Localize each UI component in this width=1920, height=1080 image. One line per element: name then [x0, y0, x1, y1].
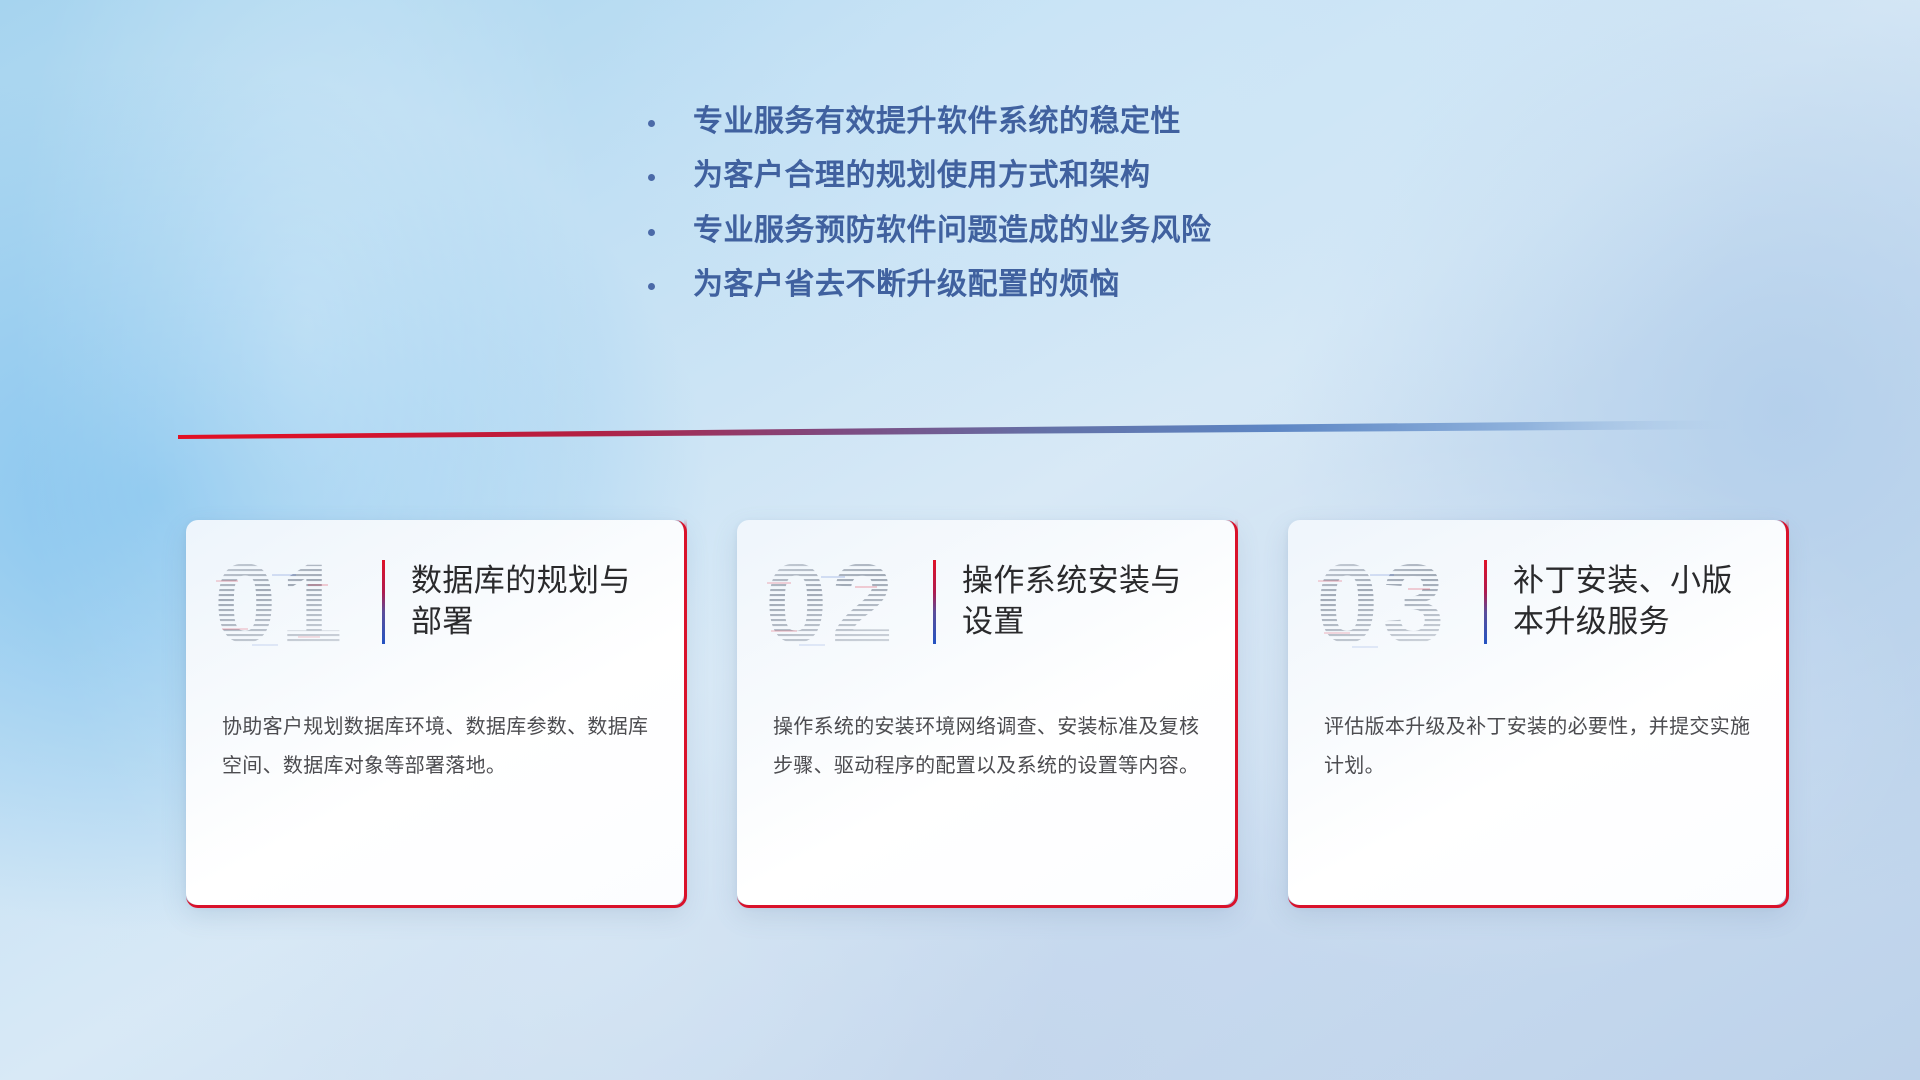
- card-title-divider: [1484, 560, 1487, 644]
- list-item: 为客户省去不断升级配置的烦恼: [648, 269, 1468, 301]
- card-number-01: 01: [212, 544, 382, 660]
- card-body-text: 操作系统的安装环境网络调查、安装标准及复核步骤、驱动程序的配置以及系统的设置等内…: [773, 708, 1201, 786]
- card-number-03: 03: [1314, 544, 1484, 660]
- striped-number-icon: 02: [763, 544, 933, 660]
- bullet-dot-icon: [648, 120, 655, 127]
- card-title-divider: [382, 560, 385, 644]
- service-card-02[interactable]: 02 操作系统安装与设置: [737, 520, 1235, 905]
- card-title: 补丁安装、小版本升级服务: [1513, 561, 1753, 643]
- slide-canvas: 专业服务有效提升软件系统的稳定性 为客户合理的规划使用方式和架构 专业服务预防软…: [0, 0, 1920, 1080]
- card-header: 02 操作系统安装与设置: [737, 520, 1235, 670]
- card-body-text: 协助客户规划数据库环境、数据库参数、数据库空间、数据库对象等部署落地。: [222, 708, 650, 786]
- list-item: 专业服务预防软件问题造成的业务风险: [648, 215, 1468, 247]
- service-card-03[interactable]: 03 补丁安装、小版本升级服务: [1288, 520, 1786, 905]
- card-number-02: 02: [763, 544, 933, 660]
- bullet-text: 专业服务有效提升软件系统的稳定性: [693, 106, 1181, 138]
- benefits-bullet-list: 专业服务有效提升软件系统的稳定性 为客户合理的规划使用方式和架构 专业服务预防软…: [648, 106, 1468, 324]
- card-title-divider: [933, 560, 936, 644]
- bullet-dot-icon: [648, 174, 655, 181]
- bullet-dot-icon: [648, 283, 655, 290]
- divider-wedge-icon: [178, 418, 1743, 440]
- service-card-01[interactable]: 01 数据库的规: [186, 520, 684, 905]
- bullet-text: 为客户合理的规划使用方式和架构: [693, 160, 1151, 192]
- service-card-list: 01 数据库的规: [186, 520, 1786, 910]
- list-item: 专业服务有效提升软件系统的稳定性: [648, 106, 1468, 138]
- striped-number-icon: 03: [1314, 544, 1484, 660]
- svg-text:01: 01: [214, 544, 347, 660]
- card-title: 数据库的规划与部署: [411, 561, 651, 643]
- card-header: 01 数据库的规: [186, 520, 684, 670]
- card-body-text: 评估版本升级及补丁安装的必要性，并提交实施计划。: [1324, 708, 1752, 786]
- card-header: 03 补丁安装、小版本升级服务: [1288, 520, 1786, 670]
- striped-number-icon: 01: [212, 544, 382, 660]
- bullet-dot-icon: [648, 229, 655, 236]
- list-item: 为客户合理的规划使用方式和架构: [648, 160, 1468, 192]
- card-title: 操作系统安装与设置: [962, 561, 1202, 643]
- section-divider: [178, 418, 1743, 440]
- svg-text:03: 03: [1316, 544, 1449, 660]
- bullet-text: 专业服务预防软件问题造成的业务风险: [693, 215, 1212, 247]
- bullet-text: 为客户省去不断升级配置的烦恼: [693, 269, 1120, 301]
- svg-text:02: 02: [765, 544, 898, 660]
